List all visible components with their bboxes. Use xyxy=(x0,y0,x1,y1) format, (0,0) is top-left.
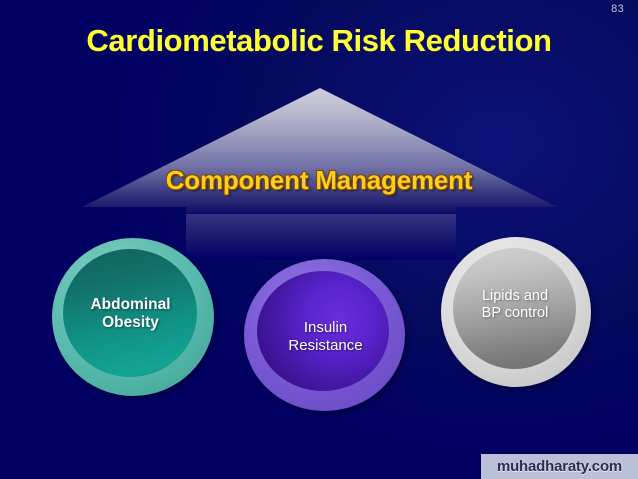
component-label-insulin-resistance: Insulin Resistance xyxy=(288,319,362,354)
component-circle-lipids-bp[interactable]: Lipids and BP control xyxy=(441,237,591,387)
page-title: Cardiometabolic Risk Reduction xyxy=(0,25,638,58)
page-number: 83 xyxy=(611,4,624,15)
component-circle-abdominal-obesity[interactable]: Abdominal Obesity xyxy=(52,238,214,396)
component-management-banner: Component Management xyxy=(0,166,638,195)
watermark-text: muhadharaty.com xyxy=(497,458,622,475)
component-label-abdominal-obesity: Abdominal Obesity xyxy=(90,296,170,333)
watermark-band: muhadharaty.com xyxy=(481,454,638,479)
component-circle-insulin-resistance[interactable]: Insulin Resistance xyxy=(244,259,405,411)
component-label-lipids-bp: Lipids and BP control xyxy=(482,288,549,322)
slide-canvas: 83 Cardiometabolic Risk Reduction xyxy=(0,0,638,479)
